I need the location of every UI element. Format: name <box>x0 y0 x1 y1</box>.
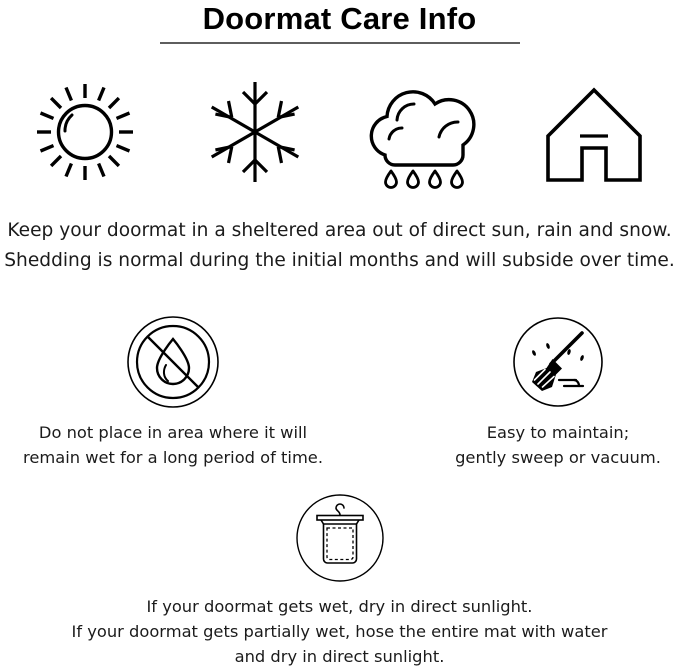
drying-caption: If your doormat gets wet, dry in direct … <box>0 594 679 669</box>
sweep-line-2: gently sweep or vacuum. <box>398 445 679 470</box>
intro-paragraph: Keep your doormat in a sheltered area ou… <box>0 216 679 276</box>
drying-section: If your doormat gets wet, dry in direct … <box>0 488 679 669</box>
sweep-line-1: Easy to maintain; <box>398 420 679 445</box>
page-header: Doormat Care Info <box>0 0 679 44</box>
care-column-no-water: Do not place in area where it will remai… <box>13 312 333 470</box>
no-water-icon <box>13 312 333 412</box>
no-water-line-1: Do not place in area where it will <box>13 420 333 445</box>
care-caption-no-water: Do not place in area where it will remai… <box>13 420 333 470</box>
house-icon <box>509 72 679 192</box>
rain-cloud-icon <box>340 72 510 192</box>
weather-icon-row <box>0 72 679 192</box>
no-water-line-2: remain wet for a long period of time. <box>13 445 333 470</box>
broom-icon <box>398 312 679 412</box>
drying-line-3: and dry in direct sunlight. <box>0 644 679 669</box>
care-columns: Do not place in area where it will remai… <box>0 312 679 472</box>
care-column-sweep: Easy to maintain; gently sweep or vacuum… <box>398 312 679 470</box>
care-caption-sweep: Easy to maintain; gently sweep or vacuum… <box>398 420 679 470</box>
drying-line-2: If your doormat gets partially wet, hose… <box>0 619 679 644</box>
drying-line-1: If your doormat gets wet, dry in direct … <box>0 594 679 619</box>
page-title: Doormat Care Info <box>0 0 679 36</box>
hanging-mat-icon <box>0 488 679 588</box>
title-underline-rule <box>160 42 520 44</box>
intro-line-2: Shedding is normal during the initial mo… <box>0 246 679 276</box>
sun-icon <box>0 72 170 192</box>
snowflake-icon <box>170 72 340 192</box>
intro-line-1: Keep your doormat in a sheltered area ou… <box>0 216 679 246</box>
